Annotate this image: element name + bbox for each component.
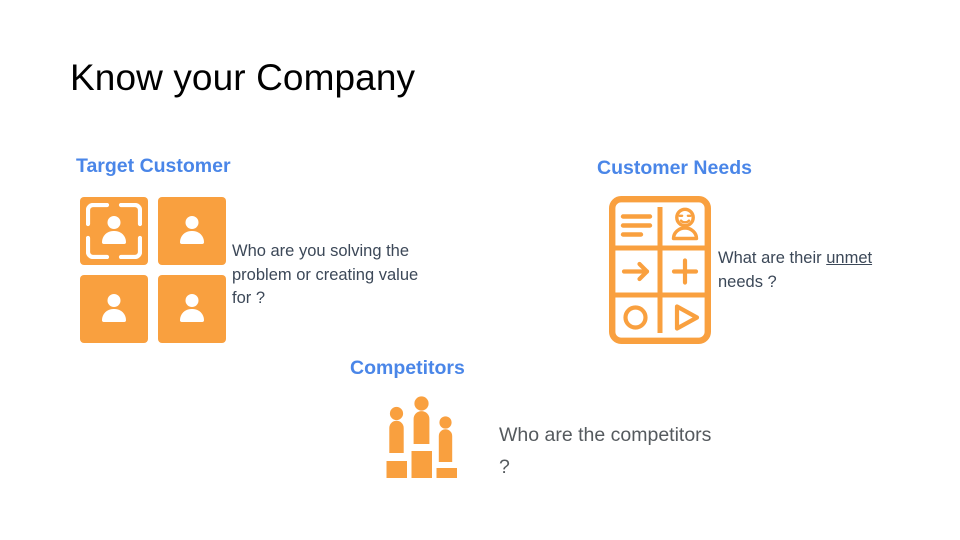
competitor-figure-right	[439, 416, 452, 462]
podium-block-third	[437, 468, 458, 478]
customer-tile-3	[80, 275, 148, 343]
page-title: Know your Company	[70, 57, 415, 99]
body-text-target-customer: Who are you solving the problem or creat…	[232, 240, 432, 311]
target-customer-grid-icon	[80, 197, 228, 343]
lines-list-icon	[623, 217, 650, 235]
customer-tile-1	[80, 197, 148, 265]
slide-canvas: Know your Company Target Customer	[0, 0, 960, 540]
competitor-figure-center	[414, 396, 430, 444]
needs-text-emphasis: unmet	[826, 249, 872, 267]
body-text-customer-needs: What are their unmet needs ?	[718, 247, 898, 294]
plus-icon	[674, 261, 696, 283]
person-head	[186, 216, 199, 229]
play-triangle-icon	[677, 307, 697, 329]
body-text-competitors: Who are the competitors ?	[499, 419, 719, 483]
person-head	[108, 294, 121, 307]
podium-block-second	[387, 461, 408, 478]
person-icon	[99, 216, 129, 246]
section-heading-competitors: Competitors	[350, 357, 465, 380]
person-icon	[177, 294, 207, 324]
person-icon	[177, 216, 207, 246]
section-heading-target-customer: Target Customer	[76, 155, 231, 178]
person-body	[180, 231, 204, 244]
customer-needs-grid-icon	[609, 196, 711, 344]
competitor-figure-left	[389, 407, 403, 453]
person-face-icon	[674, 209, 697, 238]
needs-text-part-1: What are their	[718, 249, 826, 267]
person-body	[102, 231, 126, 244]
competitors-podium-icon	[383, 396, 461, 482]
podium-block-first	[412, 451, 433, 478]
customer-tile-2	[158, 197, 226, 265]
needs-text-part-2: needs ?	[718, 273, 777, 291]
person-head	[108, 216, 121, 229]
arrow-right-icon	[624, 264, 647, 279]
person-body	[180, 309, 204, 322]
circle-icon	[626, 308, 646, 328]
person-body	[102, 309, 126, 322]
section-heading-customer-needs: Customer Needs	[597, 157, 752, 180]
person-icon	[99, 294, 129, 324]
customer-tile-4	[158, 275, 226, 343]
person-head	[186, 294, 199, 307]
